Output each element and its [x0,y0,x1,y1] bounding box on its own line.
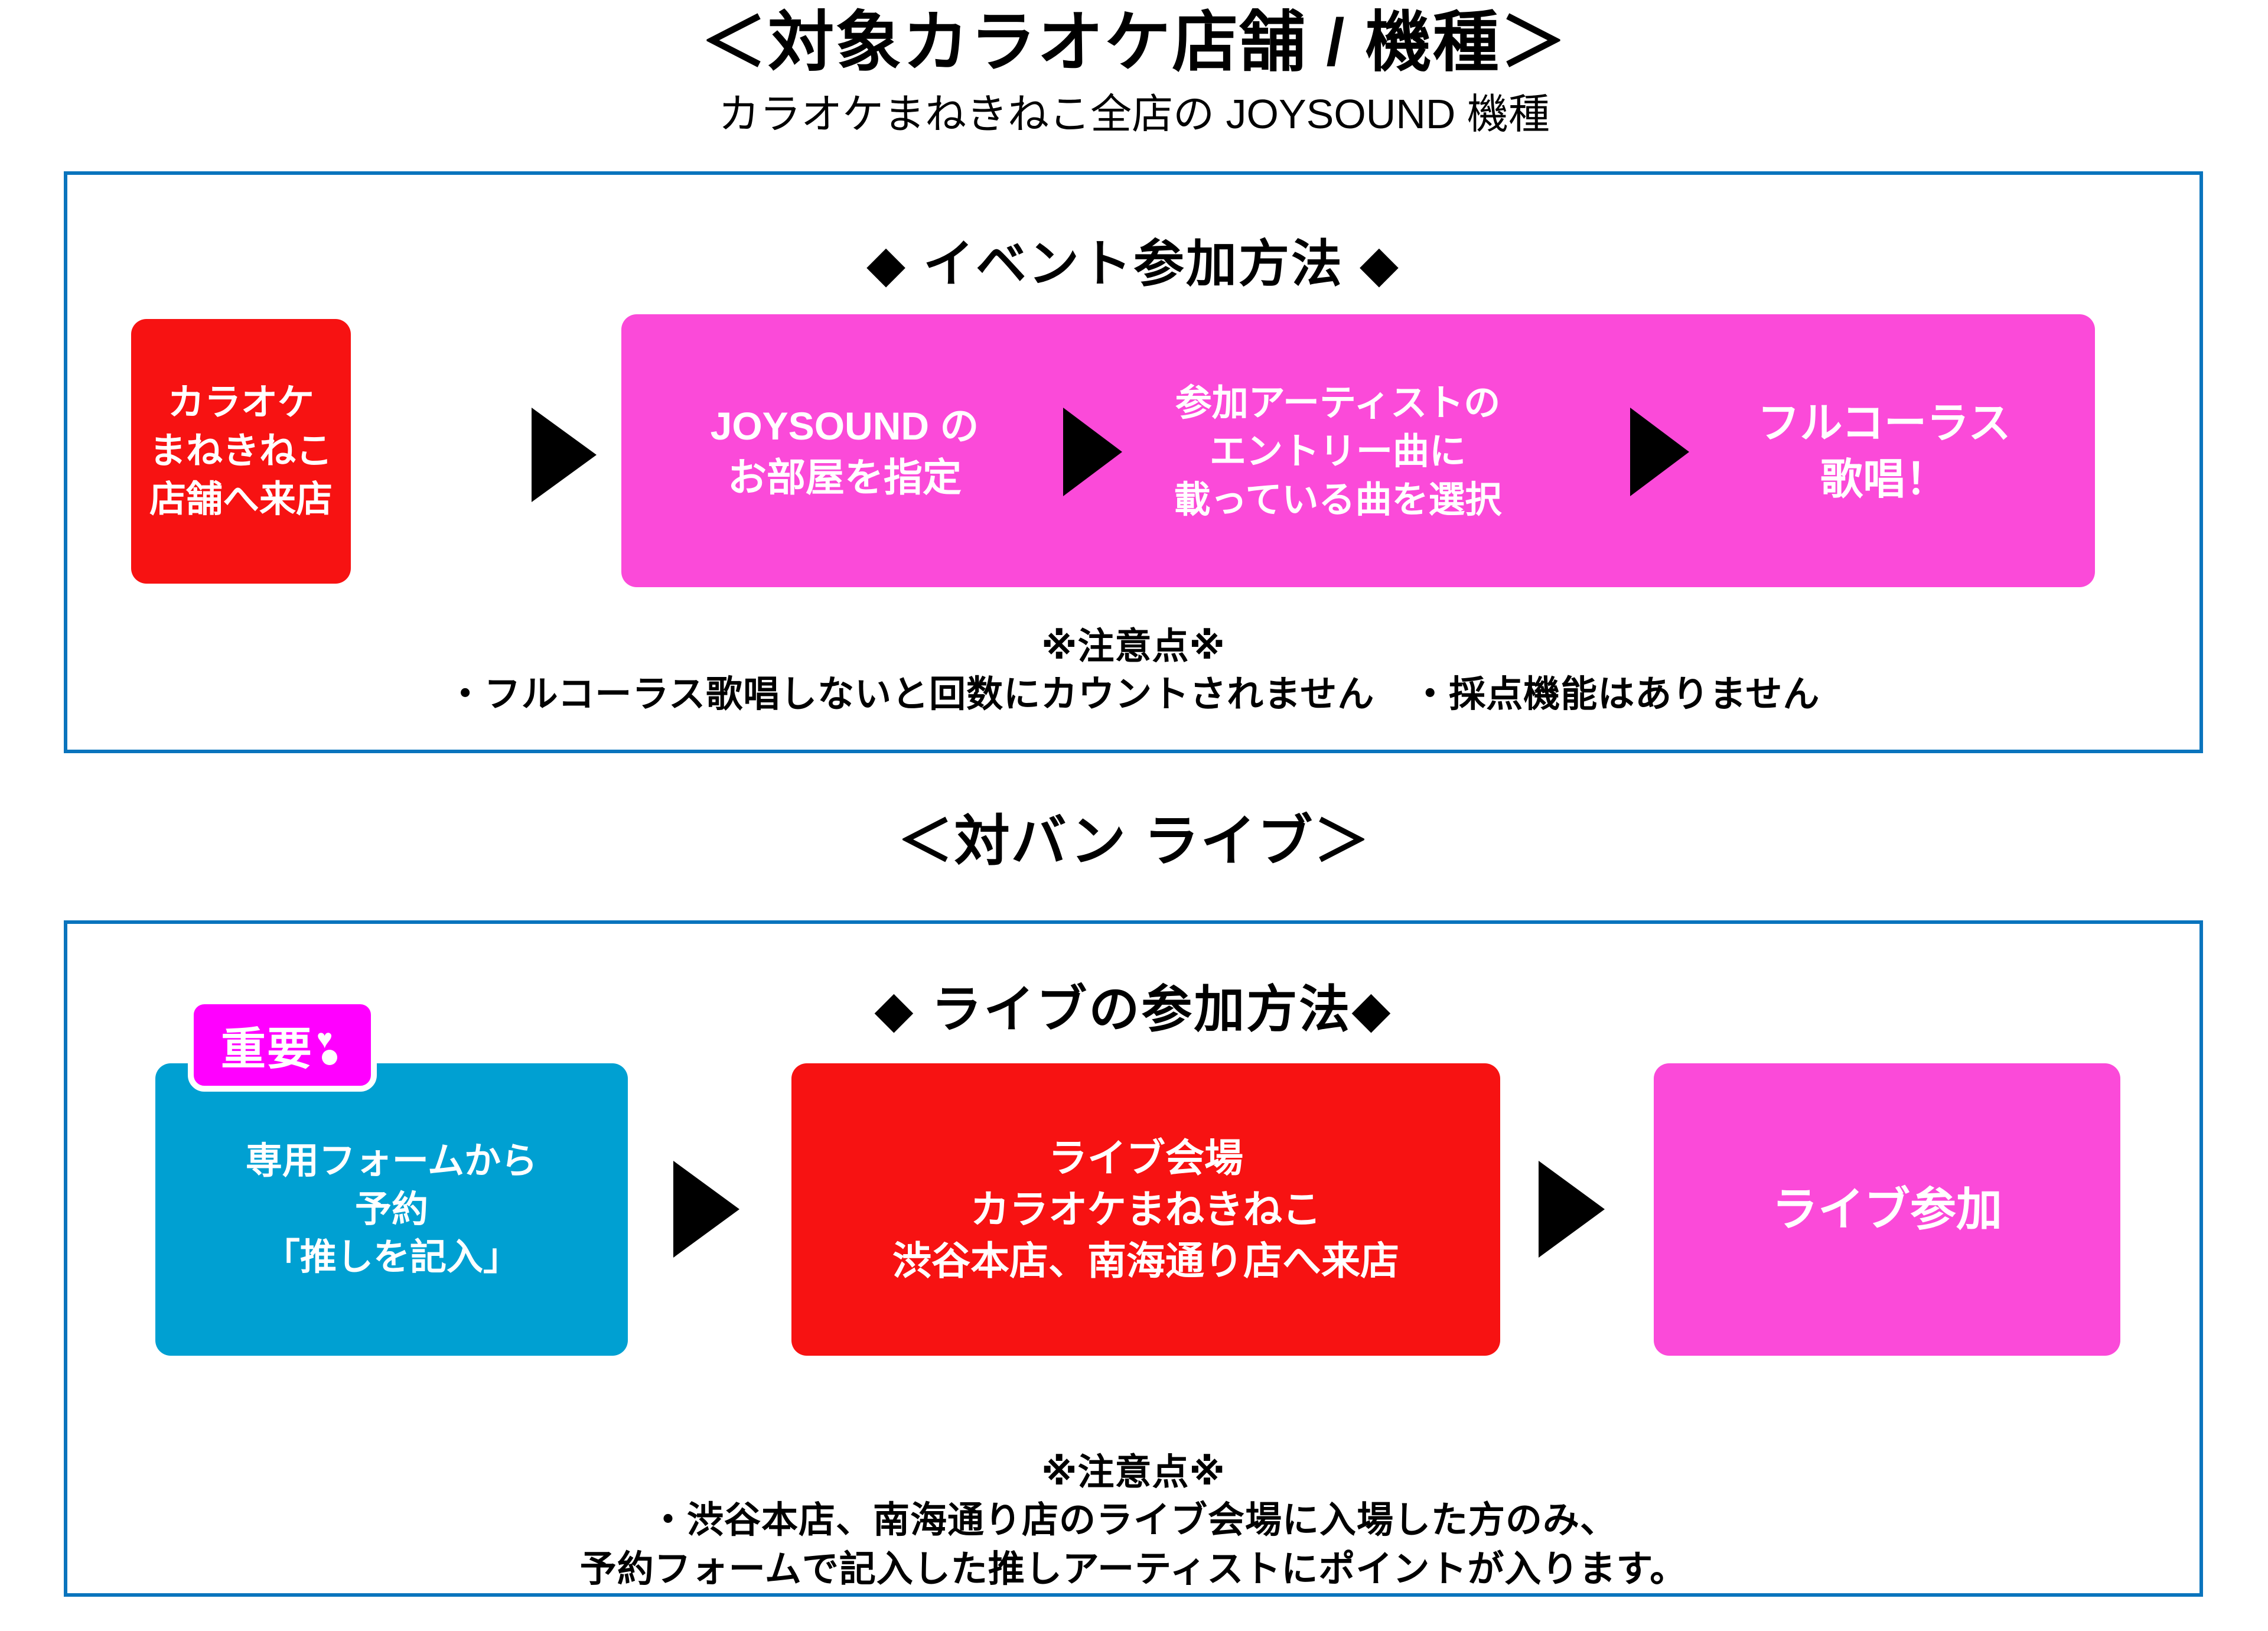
heart-exclamation-icon: ♥ [317,1023,344,1067]
arrow-right-icon [1630,408,1689,496]
step-reserve-form: 専用フォームから 予約 「推しを記入」 [155,1063,628,1356]
important-badge-label: 重要 [221,1013,313,1077]
step-visit-live-venue-line-3: 渋谷本店、南海通り店へ来店 [892,1235,1399,1287]
event-panel-heading: ◆ イベント参加方法 ◆ [67,222,2199,296]
step-visit-live-venue-line-2: カラオケまねきねこ [970,1184,1321,1235]
important-badge: 重要 ♥ [188,998,377,1092]
arrow-right-icon [1539,1161,1605,1258]
step-visit-store-line-2: まねきねこ [149,427,333,476]
step-visit-live-venue-line-1: ライブ会場 [1048,1132,1243,1184]
arrow-right-icon [1063,408,1122,496]
step-select-song-line-3: 載っている曲を選択 [1174,476,1502,525]
step-join-live: ライブ参加 [1654,1063,2120,1356]
page-header: ＜対象カラオケ店舗 / 機種＞ カラオケまねきねこ全店の JOYSOUND 機種 [0,0,2268,139]
step-select-song-line-2: エントリー曲に [1210,428,1466,476]
step-reserve-form-line-2: 予約 [355,1186,428,1234]
event-notes-line-1: ・フルコーラス歌唱しないと回数にカウントされません ・採点機能はありません [67,670,2199,720]
step-select-room: JOYSOUND の お部屋を指定 [650,372,1039,532]
arrow-right-icon [532,408,597,502]
step-select-song-line-1: 参加アーティストの [1175,379,1501,428]
live-notes-line-2: 予約フォームで記入した推しアーティストにポイントが入ります。 [67,1545,2199,1594]
event-notes-heading: ※注意点※ [67,624,2199,670]
heart-glyph: ♥ [317,1025,334,1052]
step-visit-store-line-1: カラオケ [168,379,314,427]
step-sing-full-chorus: フルコーラス 歌唱！ [1701,366,2067,538]
step-reserve-form-line-3: 「推しを記入」 [263,1233,520,1282]
live-notes: ※注意点※ ・渋谷本店、南海通り店のライブ会場に入場した方のみ、 予約フォームで… [67,1450,2199,1594]
page-title: ＜対象カラオケ店舗 / 機種＞ [0,5,2268,81]
live-section-title: ＜対バン ライブ＞ [0,796,2268,877]
event-notes: ※注意点※ ・フルコーラス歌唱しないと回数にカウントされません ・採点機能はあり… [67,624,2199,719]
step-select-song: 参加アーティストの エントリー曲に 載っている曲を選択 [1099,354,1577,549]
exclamation-dot [322,1050,337,1065]
live-panel-heading: ◆ ライブの参加方法◆ [67,968,2199,1041]
step-reserve-form-line-1: 専用フォームから [246,1137,537,1186]
step-select-room-line-2: お部屋を指定 [728,452,962,503]
step-visit-live-venue: ライブ会場 カラオケまねきねこ 渋谷本店、南海通り店へ来店 [791,1063,1500,1356]
step-sing-full-chorus-line-2: 歌唱！ [1820,452,1948,508]
step-sing-full-chorus-line-1: フルコーラス [1757,396,2010,452]
arrow-right-icon [673,1161,739,1258]
step-select-room-line-1: JOYSOUND の [711,401,979,452]
step-join-live-line-1: ライブ参加 [1772,1179,2002,1240]
step-visit-store: カラオケ まねきねこ 店舗へ来店 [131,319,351,584]
live-notes-line-1: ・渋谷本店、南海通り店のライブ会場に入場した方のみ、 [67,1496,2199,1545]
page-subtitle: カラオケまねきねこ全店の JOYSOUND 機種 [0,89,2268,139]
step-visit-store-line-3: 店舗へ来店 [149,476,333,524]
live-notes-heading: ※注意点※ [67,1450,2199,1496]
